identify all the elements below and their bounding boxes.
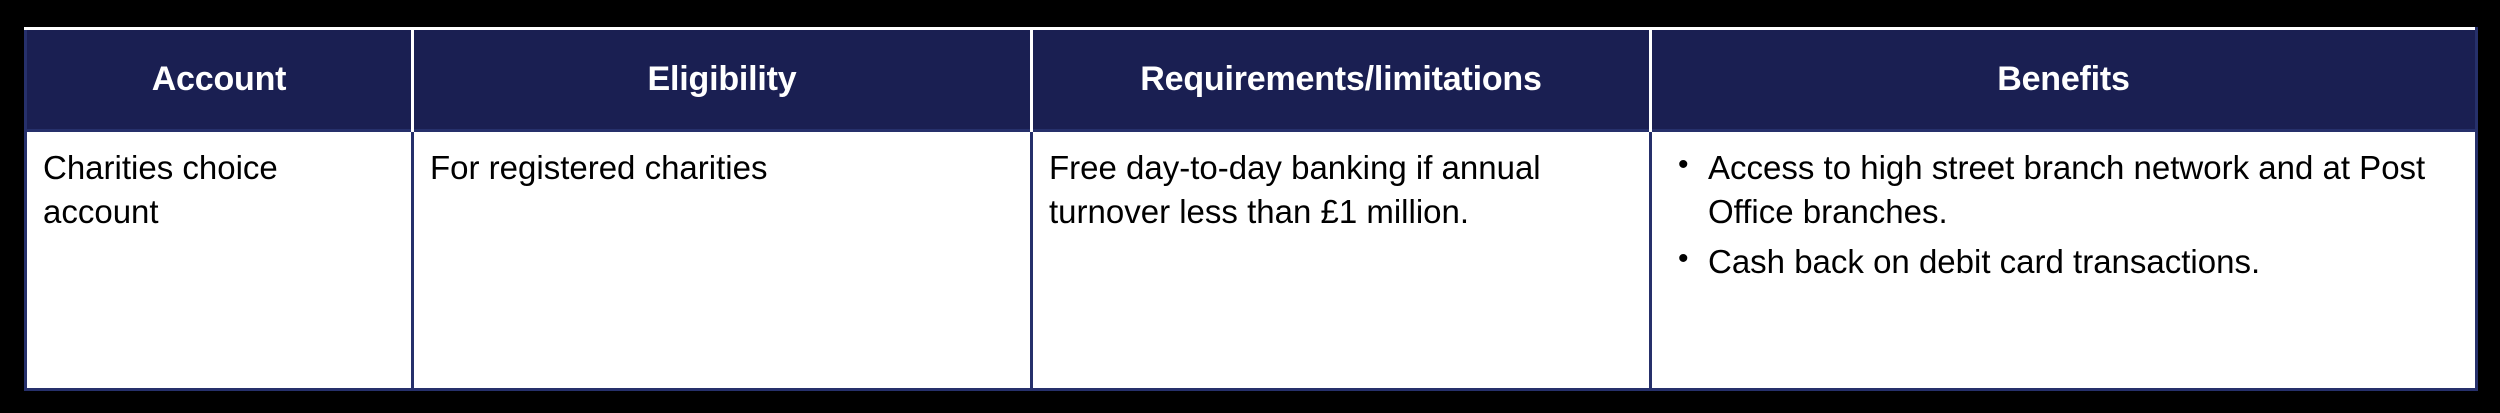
- table-body: Charities choice account For registered …: [26, 131, 2477, 390]
- account-comparison-table: Account Eligibility Requirements/limitat…: [24, 27, 2478, 391]
- column-header-requirements-limitations: Requirements/limitations: [1032, 29, 1651, 131]
- table-header: Account Eligibility Requirements/limitat…: [26, 29, 2477, 131]
- cell-requirements-text: Free day-to-day banking if annual turnov…: [1049, 146, 1633, 234]
- list-item: Cash back on debit card transactions.: [1708, 240, 2459, 284]
- column-header-account: Account: [26, 29, 413, 131]
- cell-eligibility-text: For registered charities: [430, 146, 1014, 190]
- slide-canvas: Account Eligibility Requirements/limitat…: [0, 0, 2500, 413]
- cell-eligibility: For registered charities: [413, 131, 1032, 390]
- column-header-eligibility: Eligibility: [413, 29, 1032, 131]
- cell-account: Charities choice account: [26, 131, 413, 390]
- cell-account-text: Charities choice account: [43, 146, 395, 234]
- cell-requirements-limitations: Free day-to-day banking if annual turnov…: [1032, 131, 1651, 390]
- table-row: Charities choice account For registered …: [26, 131, 2477, 390]
- benefits-list: Access to high street branch network and…: [1668, 146, 2459, 284]
- column-header-benefits: Benefits: [1651, 29, 2477, 131]
- list-item: Access to high street branch network and…: [1708, 146, 2459, 234]
- table-header-row: Account Eligibility Requirements/limitat…: [26, 29, 2477, 131]
- cell-benefits: Access to high street branch network and…: [1651, 131, 2477, 390]
